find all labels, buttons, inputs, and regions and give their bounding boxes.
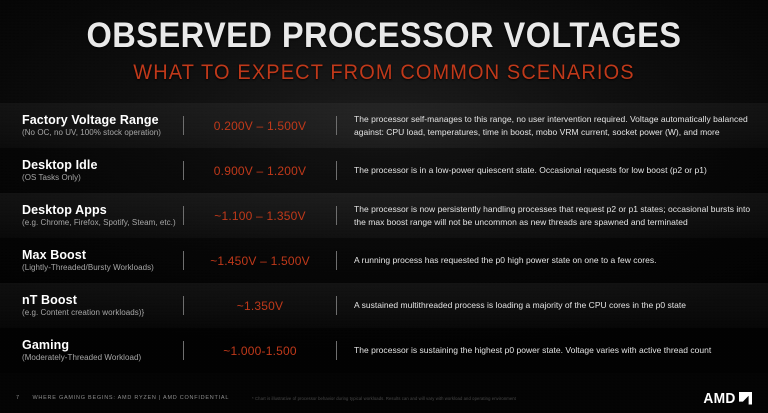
row-voltage: ~1.100 – 1.350V (184, 209, 336, 223)
row-sublabel: (e.g. Content creation workloads)} (22, 308, 183, 318)
row-sublabel: (Moderately-Threaded Workload) (22, 353, 183, 363)
row-voltage: ~1.000-1.500 (184, 344, 336, 358)
amd-logo: AMD (702, 390, 752, 407)
row-label-cell: Factory Voltage Range (No OC, no UV, 100… (0, 113, 183, 138)
table-row: nT Boost (e.g. Content creation workload… (0, 283, 768, 328)
slide-header: OBSERVED PROCESSOR VOLTAGES WHAT TO EXPE… (0, 0, 768, 85)
row-description: A sustained multithreaded process is loa… (337, 299, 768, 311)
footer-brand-line: WHERE GAMING BEGINS: AMD RYZEN | AMD CON… (19, 395, 229, 401)
row-label-cell: Desktop Idle (OS Tasks Only) (0, 158, 183, 183)
row-description: A running process has requested the p0 h… (337, 254, 768, 266)
table-row: Desktop Apps (e.g. Chrome, Firefox, Spot… (0, 193, 768, 238)
row-label: Desktop Idle (22, 158, 183, 172)
row-voltage: ~1.450V – 1.500V (184, 254, 336, 268)
row-label-cell: Desktop Apps (e.g. Chrome, Firefox, Spot… (0, 203, 183, 228)
row-label-cell: Gaming (Moderately-Threaded Workload) (0, 338, 183, 363)
footer-disclaimer: * Chart is illustrative of processor beh… (252, 396, 516, 401)
amd-wordmark: AMD (703, 390, 735, 407)
amd-arrow-icon (739, 392, 752, 405)
row-label: Max Boost (22, 248, 183, 262)
row-description: The processor self-manages to this range… (337, 113, 768, 138)
table-row: Max Boost (Lightly-Threaded/Bursty Workl… (0, 238, 768, 283)
row-voltage: ~1.350V (184, 299, 336, 313)
row-description: The processor is sustaining the highest … (337, 344, 768, 356)
row-voltage: 0.900V – 1.200V (184, 164, 336, 178)
row-sublabel: (e.g. Chrome, Firefox, Spotify, Steam, e… (22, 218, 183, 228)
row-description: The processor is now persistently handli… (337, 203, 768, 228)
row-label: Gaming (22, 338, 183, 352)
page-title: OBSERVED PROCESSOR VOLTAGES (27, 18, 741, 55)
page-subtitle: WHAT TO EXPECT FROM COMMON SCENARIOS (19, 61, 749, 85)
table-row: Desktop Idle (OS Tasks Only) 0.900V – 1.… (0, 148, 768, 193)
row-description: The processor is in a low-power quiescen… (337, 164, 768, 176)
slide-canvas: OBSERVED PROCESSOR VOLTAGES WHAT TO EXPE… (0, 0, 768, 413)
row-label: Desktop Apps (22, 203, 183, 217)
table-row: Gaming (Moderately-Threaded Workload) ~1… (0, 328, 768, 373)
row-label: nT Boost (22, 293, 183, 307)
row-sublabel: (OS Tasks Only) (22, 173, 183, 183)
voltage-table: Factory Voltage Range (No OC, no UV, 100… (0, 103, 768, 373)
slide-footer: 7 WHERE GAMING BEGINS: AMD RYZEN | AMD C… (0, 383, 768, 413)
row-label-cell: nT Boost (e.g. Content creation workload… (0, 293, 183, 318)
row-sublabel: (Lightly-Threaded/Bursty Workloads) (22, 263, 183, 273)
row-label: Factory Voltage Range (22, 113, 183, 127)
page-number: 7 (0, 395, 19, 401)
row-voltage: 0.200V – 1.500V (184, 119, 336, 133)
row-sublabel: (No OC, no UV, 100% stock operation) (22, 128, 183, 138)
row-label-cell: Max Boost (Lightly-Threaded/Bursty Workl… (0, 248, 183, 273)
table-row: Factory Voltage Range (No OC, no UV, 100… (0, 103, 768, 148)
